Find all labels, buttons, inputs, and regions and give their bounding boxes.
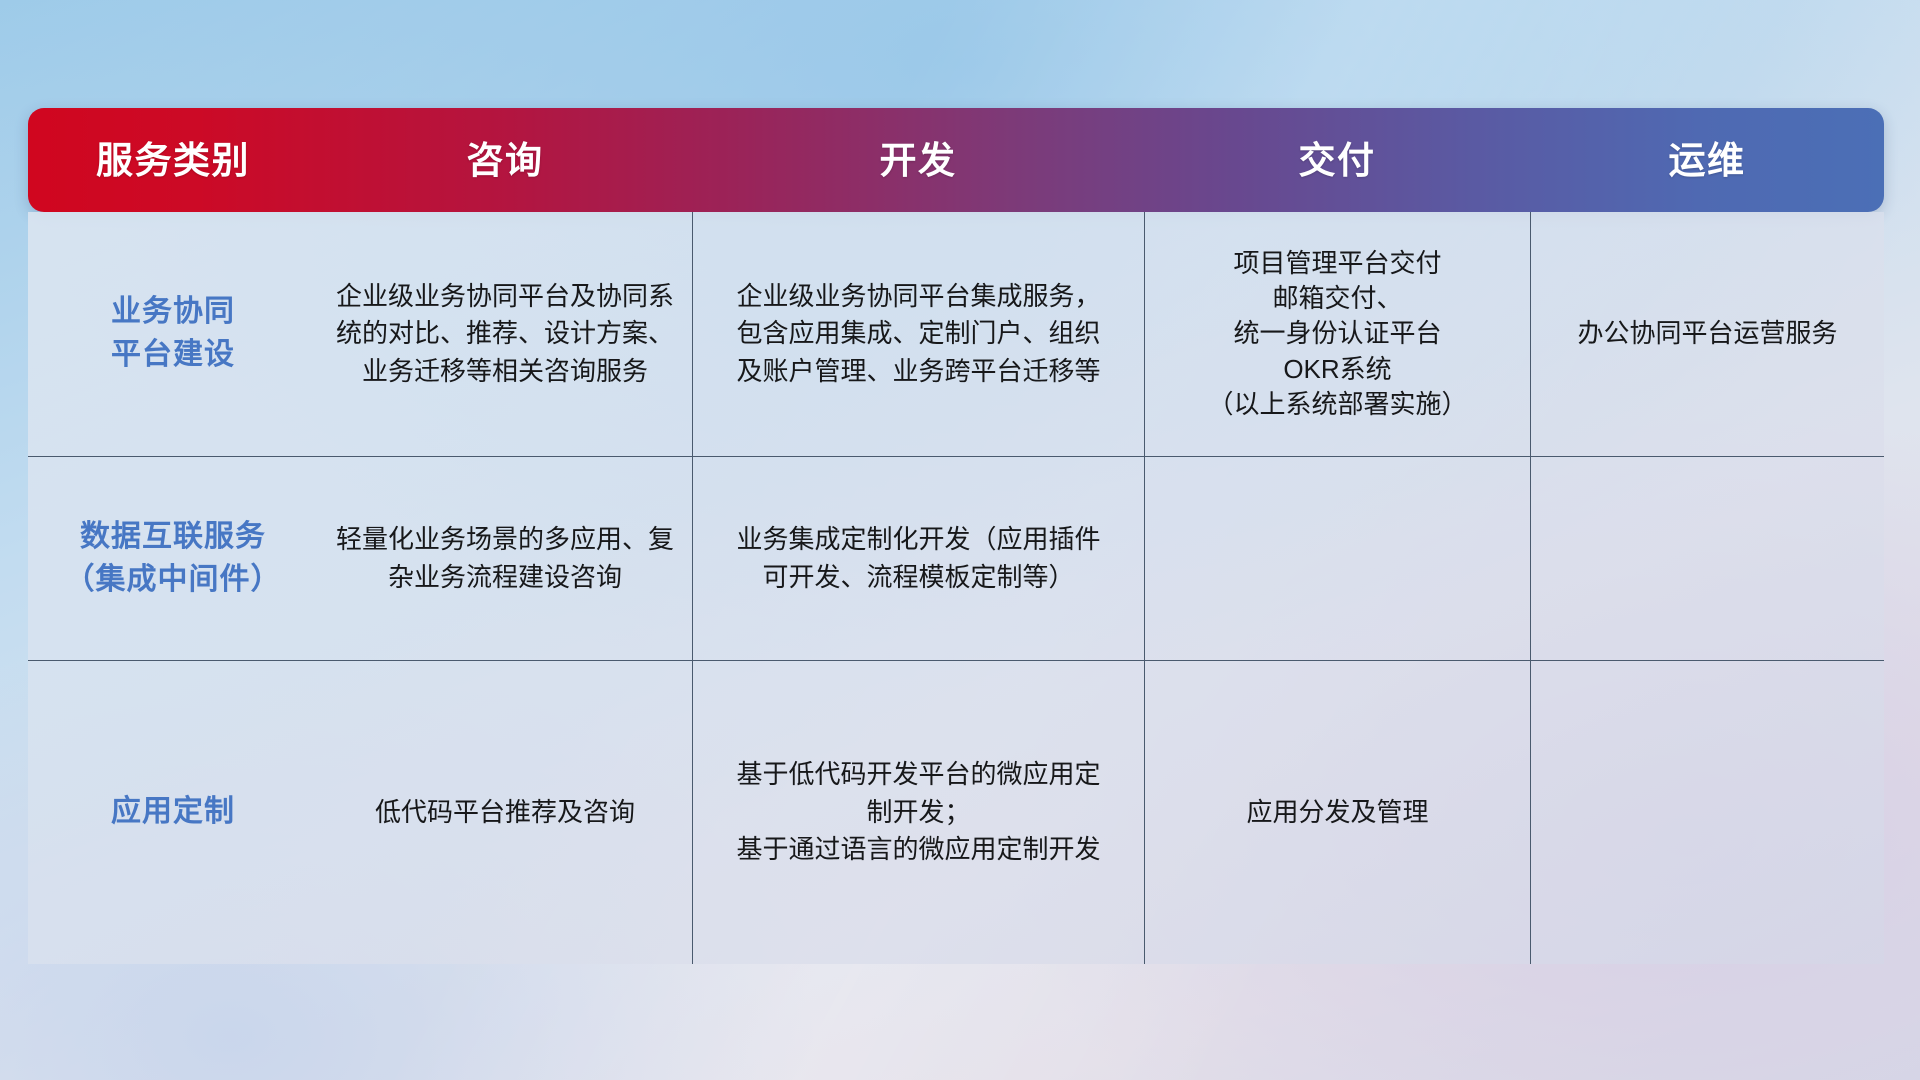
cell-operations [1530,661,1884,964]
column-header-consulting: 咨询 [318,142,692,179]
row-label-text: 数据互联服务 （集成中间件） [65,516,282,601]
cell-operations: 办公协同平台运营服务 [1530,212,1884,456]
row-label-cell: 业务协同 平台建设 [28,212,318,456]
cell-text: 办公协同平台运营服务 [1577,315,1837,352]
row-label-cell: 应用定制 [28,661,318,964]
table-row: 业务协同 平台建设 企业级业务协同平台及协同系 统的对比、推荐、设计方案、 业务… [28,212,1884,456]
cell-text: 轻量化业务场景的多应用、复 杂业务流程建设咨询 [336,521,674,596]
column-header-development: 开发 [692,142,1144,179]
cell-consulting: 企业级业务协同平台及协同系 统的对比、推荐、设计方案、 业务迁移等相关咨询服务 [318,212,692,456]
table-header-row: 服务类别 咨询 开发 交付 运维 [28,108,1884,212]
row-label-text: 业务协同 平台建设 [111,291,235,376]
cell-text: 基于低代码开发平台的微应用定 制开发； 基于通过语言的微应用定制开发 [736,756,1100,868]
cell-delivery [1144,457,1530,660]
cell-text: 应用分发及管理 [1246,794,1428,831]
cell-text: 业务集成定制化开发（应用插件 可开发、流程模板定制等） [736,521,1100,596]
cell-development: 企业级业务协同平台集成服务， 包含应用集成、定制门户、组织 及账户管理、业务跨平… [692,212,1144,456]
cell-text: 企业级业务协同平台及协同系 统的对比、推荐、设计方案、 业务迁移等相关咨询服务 [336,278,674,390]
row-label-text: 应用定制 [111,791,235,834]
cell-consulting: 轻量化业务场景的多应用、复 杂业务流程建设咨询 [318,457,692,660]
service-matrix-table: 服务类别 咨询 开发 交付 运维 业务协同 平台建设 企业级业务协同平台及协同系… [28,108,1884,968]
cell-consulting: 低代码平台推荐及咨询 [318,661,692,964]
cell-text: 项目管理平台交付 邮箱交付、 统一身份认证平台 OKR系统 （以上系统部署实施） [1207,246,1467,423]
cell-operations [1530,457,1884,660]
cell-development: 业务集成定制化开发（应用插件 可开发、流程模板定制等） [692,457,1144,660]
column-header-delivery: 交付 [1144,142,1530,179]
table-row: 数据互联服务 （集成中间件） 轻量化业务场景的多应用、复 杂业务流程建设咨询 业… [28,456,1884,660]
table-body: 业务协同 平台建设 企业级业务协同平台及协同系 统的对比、推荐、设计方案、 业务… [28,212,1884,964]
row-label-cell: 数据互联服务 （集成中间件） [28,457,318,660]
column-header-operations: 运维 [1530,142,1884,179]
table-row: 应用定制 低代码平台推荐及咨询 基于低代码开发平台的微应用定 制开发； 基于通过… [28,660,1884,964]
cell-delivery: 项目管理平台交付 邮箱交付、 统一身份认证平台 OKR系统 （以上系统部署实施） [1144,212,1530,456]
cell-development: 基于低代码开发平台的微应用定 制开发； 基于通过语言的微应用定制开发 [692,661,1144,964]
cell-text: 企业级业务协同平台集成服务， 包含应用集成、定制门户、组织 及账户管理、业务跨平… [736,278,1100,390]
column-header-category: 服务类别 [28,142,318,179]
cell-delivery: 应用分发及管理 [1144,661,1530,964]
cell-text: 低代码平台推荐及咨询 [375,794,635,831]
